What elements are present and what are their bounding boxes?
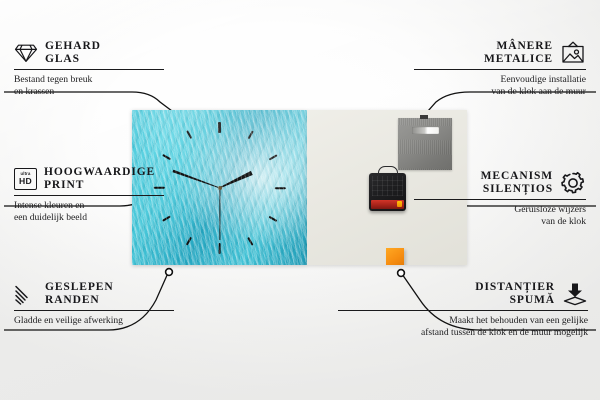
quartz-movement bbox=[369, 173, 406, 211]
hanger-nub bbox=[420, 115, 428, 119]
feature-title-line-2: SILENȚIOS bbox=[483, 183, 553, 196]
feature-title: DISTANȚIER SPUMĂ bbox=[475, 281, 555, 306]
feature-desc-line-1: Geruisloze wijzers bbox=[414, 204, 586, 215]
spacer-arrow-icon bbox=[562, 282, 588, 306]
product-feature-infographic: GEHARD GLAS Bestand tegen breuk en krass… bbox=[0, 0, 600, 400]
feature-desc-line-1: Maakt het behouden van een gelijke bbox=[338, 315, 588, 326]
clock-second-hand bbox=[219, 188, 220, 240]
feature-geslepen-randen: GESLEPEN RANDEN Gladde en veilige afwerk… bbox=[14, 281, 174, 327]
movement-battery bbox=[371, 200, 404, 209]
feature-header: MÂNERE METALICE bbox=[414, 40, 586, 65]
feature-desc-line-1: Gladde en veilige afwerking bbox=[14, 315, 174, 326]
movement-texture bbox=[372, 176, 403, 196]
feature-desc-line-2: en krassen bbox=[14, 86, 164, 97]
clock-center-pin bbox=[218, 186, 222, 190]
feature-desc-line-2: van de klok aan de muur bbox=[414, 86, 586, 97]
feature-header: ultra HD HOOGWAARDIGE PRINT bbox=[14, 166, 164, 191]
diamond-icon bbox=[14, 42, 38, 64]
feature-header: GESLEPEN RANDEN bbox=[14, 281, 174, 306]
feature-desc-line-1: Bestand tegen breuk bbox=[14, 74, 164, 85]
gear-icon bbox=[560, 171, 586, 195]
feature-title: GEHARD GLAS bbox=[45, 40, 101, 65]
feature-title-line-2: SPUMĂ bbox=[510, 294, 555, 307]
feature-desc-line-1: Eenvoudige installatie bbox=[414, 74, 586, 85]
hanger-slot bbox=[412, 127, 439, 134]
feature-title-line-1: MÂNERE bbox=[496, 40, 553, 53]
feature-title: HOOGWAARDIGE PRINT bbox=[44, 166, 155, 191]
wall-mount-icon bbox=[560, 41, 586, 64]
feature-title-line-1: MECANISM bbox=[481, 170, 553, 183]
feature-title-line-1: DISTANȚIER bbox=[475, 281, 555, 294]
feature-header: MECANISM SILENȚIOS bbox=[414, 170, 586, 195]
feature-divider bbox=[14, 195, 164, 196]
feature-title: MECANISM SILENȚIOS bbox=[481, 170, 553, 195]
feature-title: MÂNERE METALICE bbox=[484, 40, 553, 65]
feature-desc-line-2: van de klok bbox=[414, 216, 586, 227]
feature-divider bbox=[414, 199, 586, 200]
feature-header: DISTANȚIER SPUMĂ bbox=[338, 281, 588, 306]
feature-gehard-glas: GEHARD GLAS Bestand tegen breuk en krass… bbox=[14, 40, 164, 97]
feature-title-line-1: GESLEPEN bbox=[45, 281, 114, 294]
ultra-hd-icon: ultra HD bbox=[14, 168, 37, 190]
feature-title: GESLEPEN RANDEN bbox=[45, 281, 114, 306]
connector-dot-geslepen-randen bbox=[166, 269, 173, 276]
feature-header: GEHARD GLAS bbox=[14, 40, 164, 65]
feature-title-line-2: PRINT bbox=[44, 179, 155, 192]
feature-manere-metalice: MÂNERE METALICE Eenvoudige installatie v… bbox=[414, 40, 586, 97]
feature-divider bbox=[414, 69, 586, 70]
hanger-plate bbox=[398, 118, 452, 170]
feature-desc-line-2: een duidelijk beeld bbox=[14, 212, 164, 223]
feature-title-line-2: GLAS bbox=[45, 53, 101, 66]
clock-minute-hand bbox=[172, 169, 220, 189]
feature-desc-line-1: Intense kleuren en bbox=[14, 200, 164, 211]
feature-title-line-1: GEHARD bbox=[45, 40, 101, 53]
bevel-edge-icon bbox=[14, 283, 38, 305]
ultra-hd-icon-large-text: HD bbox=[19, 177, 32, 186]
foam-spacer bbox=[386, 248, 404, 265]
movement-hanger-loop bbox=[378, 166, 398, 176]
feature-hoogwaardige-print: ultra HD HOOGWAARDIGE PRINT Intense kleu… bbox=[14, 166, 164, 223]
feature-desc-line-2: afstand tussen de klok en de muur mogeli… bbox=[338, 327, 588, 338]
feature-title-line-1: HOOGWAARDIGE bbox=[44, 166, 155, 179]
connector-dot-distantier-spuma bbox=[398, 270, 405, 277]
feature-divider bbox=[14, 69, 164, 70]
feature-distantier-spuma: DISTANȚIER SPUMĂ Maakt het behouden van … bbox=[338, 281, 588, 338]
feature-divider bbox=[338, 310, 588, 311]
feature-title-line-2: RANDEN bbox=[45, 294, 114, 307]
feature-title-line-2: METALICE bbox=[484, 53, 553, 66]
clock-hour-hand bbox=[219, 170, 254, 189]
feature-mecanism-silentios: MECANISM SILENȚIOS Geruisloze wijzers va… bbox=[414, 170, 586, 227]
feature-divider bbox=[14, 310, 174, 311]
